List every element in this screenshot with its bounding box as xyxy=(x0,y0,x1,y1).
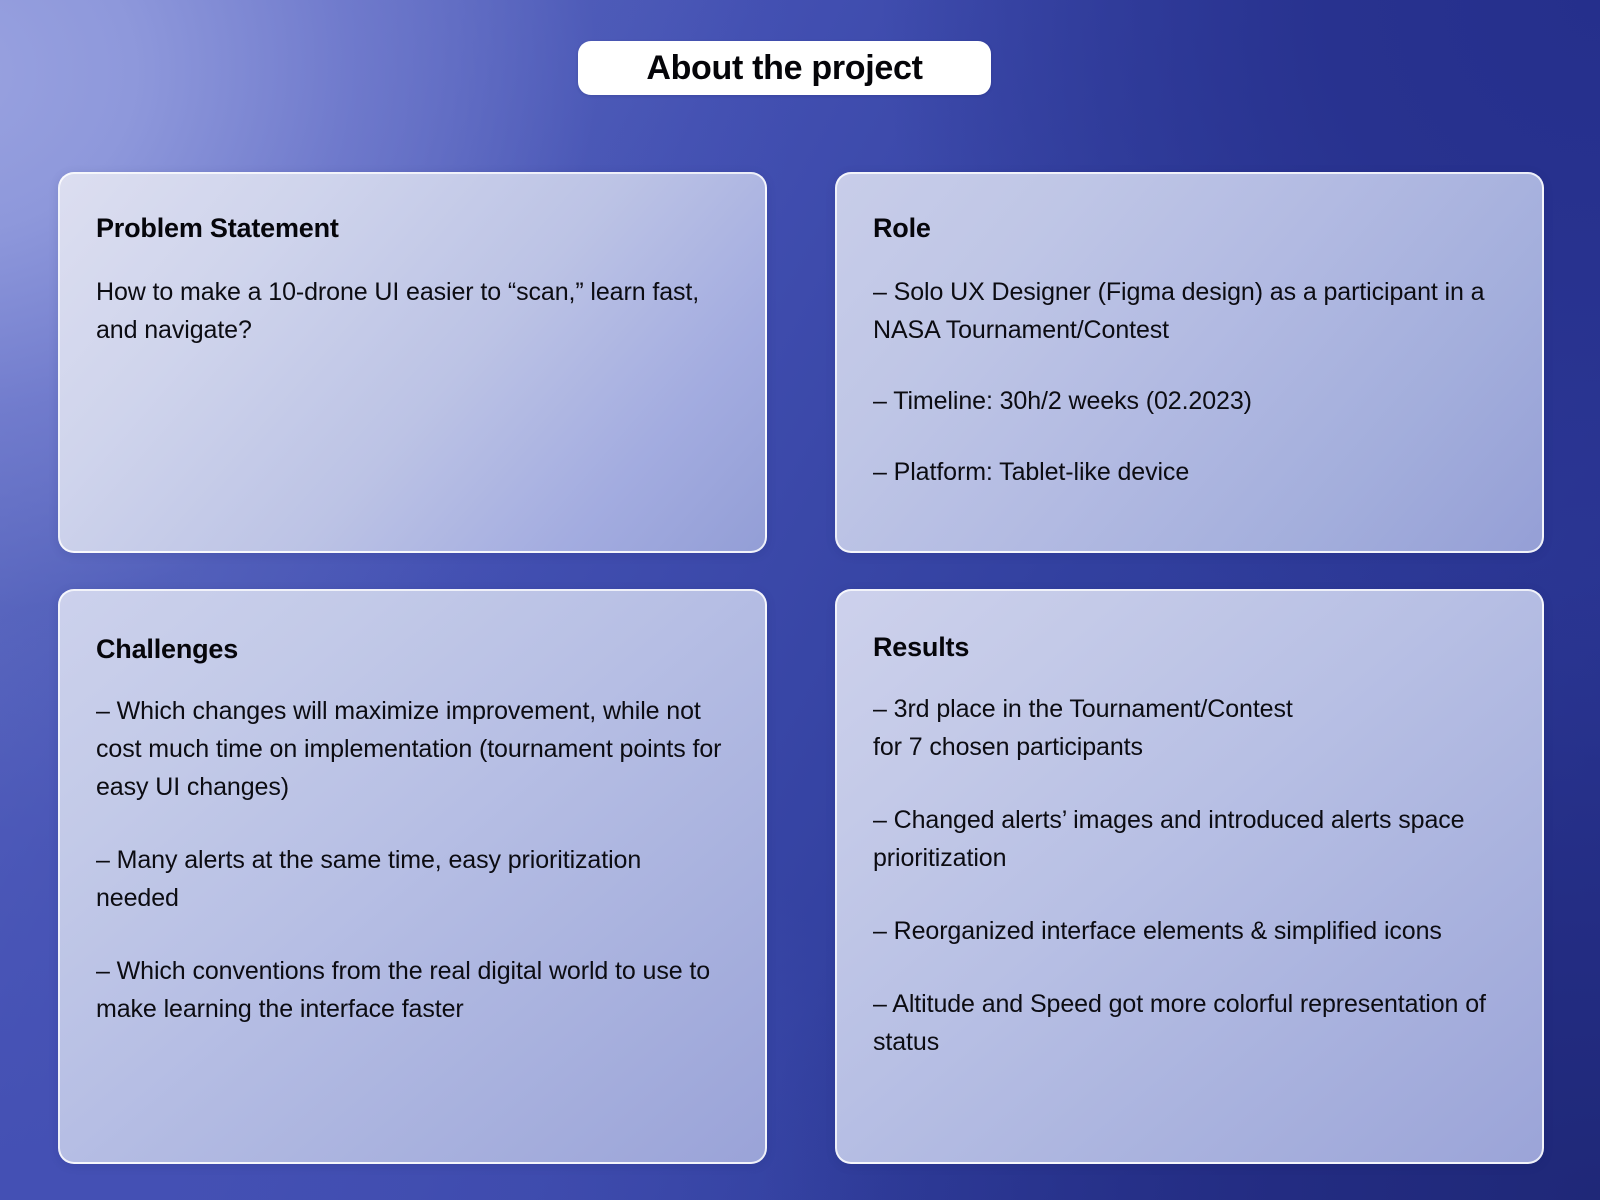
card-title-role: Role xyxy=(873,214,1506,244)
card-challenges: Challenges – Which changes will maximize… xyxy=(58,589,767,1164)
card-paragraph: – Altitude and Speed got more colorful r… xyxy=(873,985,1506,1061)
card-paragraph: – Platform: Tablet-like device xyxy=(873,453,1506,491)
slide-canvas: About the project Problem Statement How … xyxy=(0,0,1600,1200)
card-title-challenges: Challenges xyxy=(96,635,729,665)
card-paragraph: How to make a 10-drone UI easier to “sca… xyxy=(96,273,729,349)
card-body-challenges: – Which changes will maximize improvemen… xyxy=(96,692,729,1028)
card-role: Role – Solo UX Designer (Figma design) a… xyxy=(835,172,1544,553)
page-title: About the project xyxy=(646,51,922,85)
card-paragraph: – Which changes will maximize improvemen… xyxy=(96,692,729,806)
card-paragraph: – Changed alerts’ images and introduced … xyxy=(873,801,1506,877)
card-title-results: Results xyxy=(873,633,1506,663)
card-paragraph: – Reorganized interface elements & simpl… xyxy=(873,912,1506,950)
card-paragraph: – Many alerts at the same time, easy pri… xyxy=(96,841,729,917)
card-paragraph: – Timeline: 30h/2 weeks (02.2023) xyxy=(873,382,1506,420)
card-body-results: – 3rd place in the Tournament/Contest fo… xyxy=(873,690,1506,1061)
page-title-pill: About the project xyxy=(578,41,991,95)
card-body-problem-statement: How to make a 10-drone UI easier to “sca… xyxy=(96,273,729,349)
card-results: Results – 3rd place in the Tournament/Co… xyxy=(835,589,1544,1164)
card-paragraph: – Which conventions from the real digita… xyxy=(96,952,729,1028)
card-paragraph: – Solo UX Designer (Figma design) as a p… xyxy=(873,273,1506,349)
card-problem-statement: Problem Statement How to make a 10-drone… xyxy=(58,172,767,553)
card-body-role: – Solo UX Designer (Figma design) as a p… xyxy=(873,273,1506,491)
info-card-grid: Problem Statement How to make a 10-drone… xyxy=(58,172,1544,1164)
card-paragraph: – 3rd place in the Tournament/Contest fo… xyxy=(873,690,1506,766)
card-title-problem-statement: Problem Statement xyxy=(96,214,729,244)
